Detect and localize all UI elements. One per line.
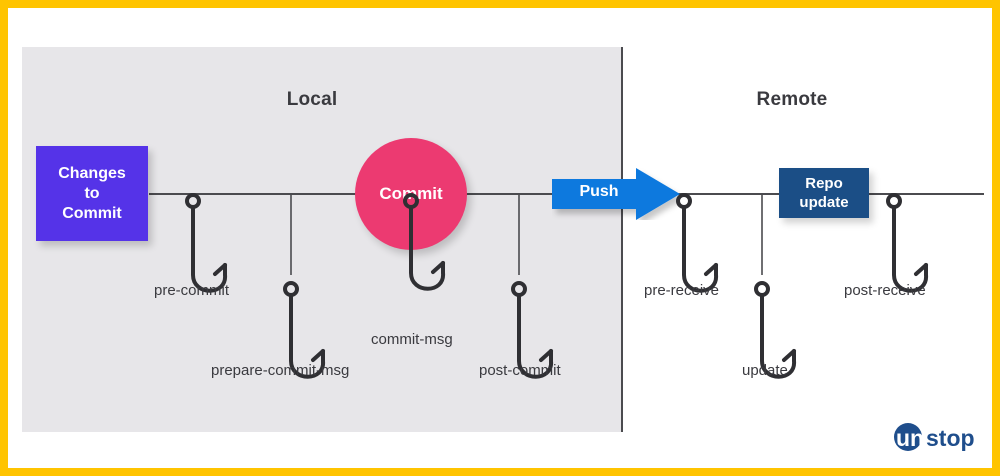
hook-body-icon	[894, 207, 926, 291]
hook-eye-ring-icon	[756, 283, 768, 295]
unstop-logo-suffix: stop	[926, 425, 975, 451]
diagram-frame: Local Remote ChangestoCommit Commit Push…	[0, 0, 1000, 476]
diagram-canvas: Local Remote ChangestoCommit Commit Push…	[8, 8, 992, 468]
unstop-logo-prefix: un	[896, 425, 924, 451]
hook-label-update: update	[742, 362, 788, 379]
hook-eye-ring-icon	[888, 195, 900, 207]
hook-label-post-commit: post-commit	[479, 362, 561, 379]
changes-line-1: Changes	[58, 165, 126, 182]
local-remote-divider	[621, 47, 623, 432]
hook-body-icon	[193, 207, 225, 291]
unstop-logo: un stop	[893, 420, 985, 454]
hook-label-post-receive: post-receive	[844, 282, 926, 299]
hook-label-pre-commit: pre-commit	[154, 282, 229, 299]
hook-commit-msg	[397, 194, 453, 312]
push-arrow-label: Push	[560, 183, 638, 205]
hook-eye-ring-icon	[285, 283, 297, 295]
remote-section-title: Remote	[702, 89, 882, 111]
changes-to-commit-label: ChangestoCommit	[58, 164, 126, 224]
hook-eye-ring-icon	[187, 195, 199, 207]
repo-line-2: update	[799, 194, 848, 211]
hook-eye-ring-icon	[513, 283, 525, 295]
repo-line-1: Repo	[805, 175, 843, 192]
hook-label-commit-msg: commit-msg	[371, 331, 453, 348]
changes-line-2: to	[84, 185, 99, 202]
hook-body-icon	[411, 207, 443, 289]
changes-line-3: Commit	[62, 205, 122, 222]
hook-eye-ring-icon	[405, 195, 417, 207]
hook-label-prepare-commit-msg: prepare-commit-msg	[211, 362, 349, 379]
local-section-title: Local	[222, 89, 402, 111]
changes-to-commit-box: ChangestoCommit	[36, 146, 148, 241]
hook-body-icon	[684, 207, 716, 291]
repo-update-label: Repoupdate	[799, 174, 848, 212]
hook-eye-ring-icon	[678, 195, 690, 207]
hook-label-pre-receive: pre-receive	[644, 282, 719, 299]
